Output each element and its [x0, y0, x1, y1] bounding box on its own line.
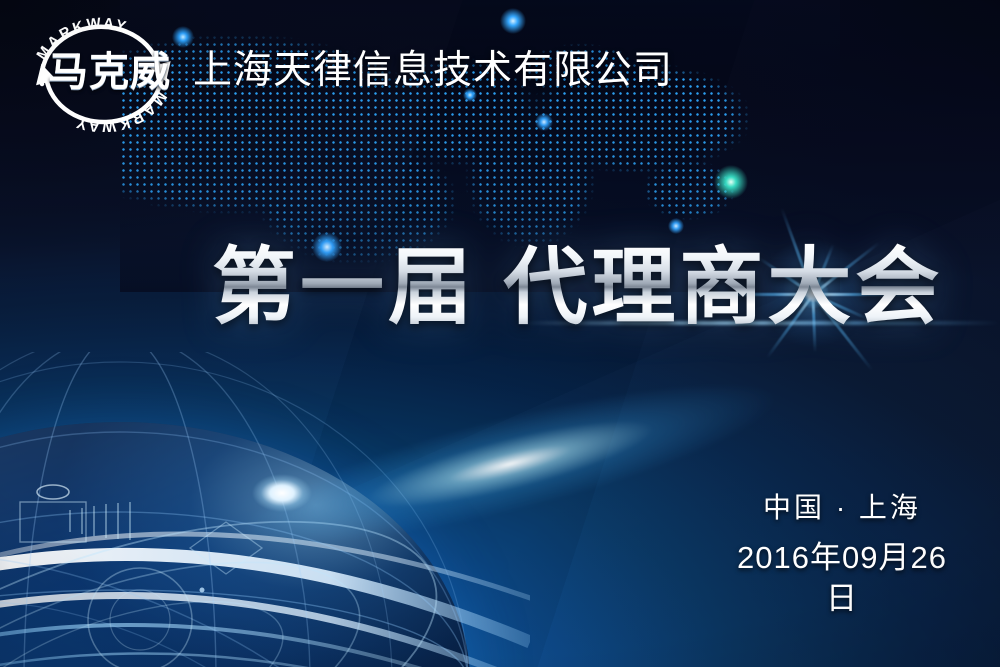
light-streak-core: [252, 474, 312, 512]
logo-arc-bottom-text: MARKWAY: [73, 88, 170, 132]
event-date: 2016年09月26日: [732, 538, 952, 619]
event-location: 中国 · 上海: [732, 490, 952, 526]
markway-logo: MARKWAY MARKWAY 马克威: [22, 14, 182, 132]
presentation-slide: MARKWAY MARKWAY 马克威 上海天律信息技术有限公司 第一届 代理商…: [0, 0, 1000, 667]
globe-orbit-lines: [0, 352, 530, 667]
event-meta: 中国 · 上海 2016年09月26日: [732, 490, 952, 619]
logo-wordmark: 马克威: [48, 52, 171, 92]
company-name: 上海天律信息技术有限公司: [193, 50, 673, 92]
tech-globe-graphic: [0, 352, 530, 667]
page-title: 第一届 代理商大会: [212, 243, 943, 331]
